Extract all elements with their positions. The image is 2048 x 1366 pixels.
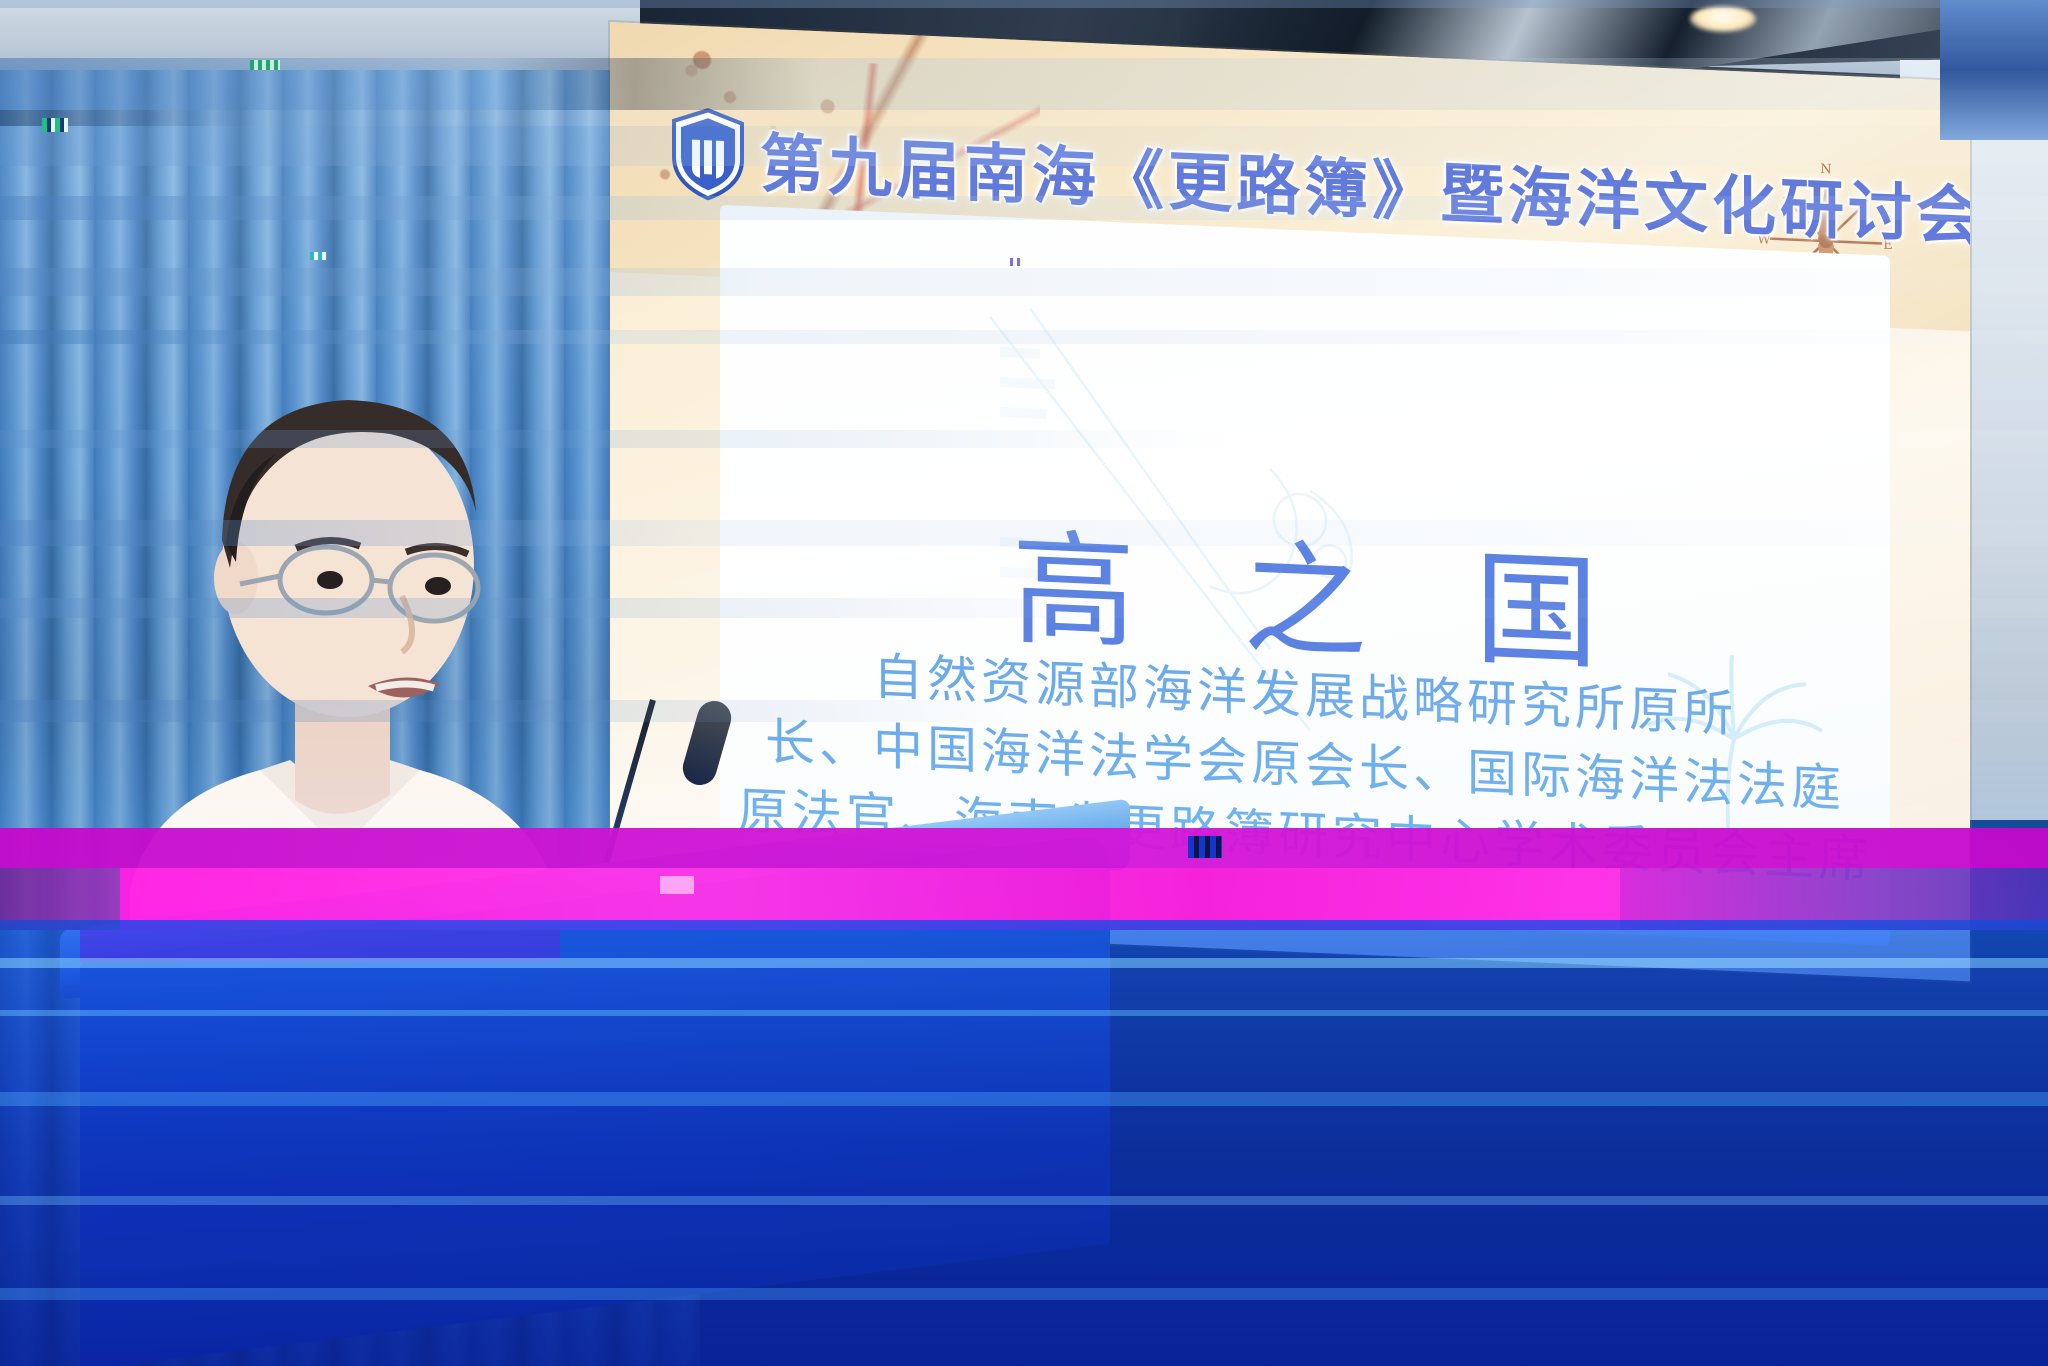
- university-shield-logo-icon: [670, 107, 746, 202]
- ceiling-light-icon: [1690, 6, 1756, 32]
- screenshot-root: N E S W 第九届南海《更路簿》暨海洋文化研讨会: [0, 0, 2048, 1366]
